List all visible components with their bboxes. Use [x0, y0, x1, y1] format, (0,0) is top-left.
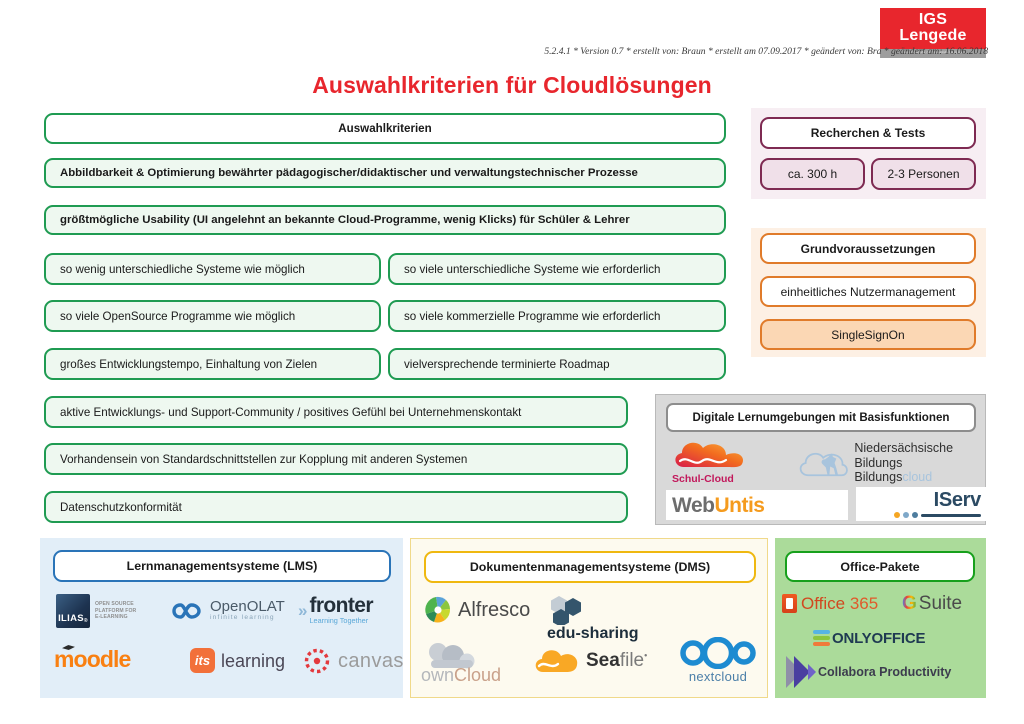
- office365-label: Office 365: [801, 595, 878, 612]
- nextcloud-circles-icon: [676, 637, 760, 669]
- lms-heading: Lernmanagementsysteme (LMS): [53, 550, 391, 582]
- openolat-label: OpenOLAT: [210, 599, 285, 614]
- learning-envs-heading: Digitale Lernumgebungen mit Basisfunktio…: [666, 403, 976, 432]
- fronter-logo: » fronter Learning Together: [298, 596, 373, 625]
- seafile-logo: Seafile•: [533, 644, 647, 676]
- collabora-logo: Collabora Productivity: [784, 653, 951, 691]
- onlyoffice-stack-icon: [813, 630, 830, 646]
- criteria-wide-1[interactable]: größtmögliche Usability (UI angelehnt an…: [44, 205, 726, 235]
- edusharing-label: edu-sharing: [547, 626, 639, 642]
- criteria-pair-1-left[interactable]: so viele OpenSource Programme wie möglic…: [44, 300, 381, 332]
- collabora-arrow-icon: [784, 653, 818, 691]
- poster-canvas: IGS Lengede Gesamtschule der Gemeinde Le…: [0, 0, 1024, 724]
- criteria-bottom-2[interactable]: Datenschutzkonformität: [44, 491, 628, 523]
- nextcloud-label: nextcloud: [689, 669, 747, 684]
- owncloud-label: ownCloud: [421, 666, 501, 684]
- nbc-label-1: Niedersächsische Bildungs: [854, 441, 986, 470]
- openolat-caption: infinite learning: [210, 614, 285, 623]
- schul-cloud-cloud-icon: [672, 437, 782, 473]
- dms-heading: Dokumentenmanagementsysteme (DMS): [424, 551, 756, 583]
- iserv-label: IServ: [934, 490, 981, 510]
- prerequisites-item-0[interactable]: einheitliches Nutzermanagement: [760, 276, 976, 307]
- prerequisites-item-1[interactable]: SingleSignOn: [760, 319, 976, 350]
- prerequisites-heading: Grundvoraussetzungen: [760, 233, 976, 264]
- nextcloud-logo: nextcloud: [676, 637, 760, 684]
- seafile-cloud-icon: [533, 644, 581, 676]
- criteria-pair-2-left[interactable]: großes Entwicklungstempo, Einhaltung von…: [44, 348, 381, 380]
- itslearning-logo: its learning: [190, 648, 285, 673]
- fronter-chevrons-icon: »: [298, 602, 304, 619]
- page-title: Auswahlkriterien für Cloudlösungen: [0, 72, 1024, 99]
- criteria-bottom-0[interactable]: aktive Entwicklungs- und Support-Communi…: [44, 396, 628, 428]
- criteria-bottom-1[interactable]: Vorhandensein von Standardschnittstellen…: [44, 443, 628, 475]
- fronter-caption: Learning Together: [309, 616, 372, 625]
- canvas-label: canvas: [338, 651, 404, 671]
- moodle-label: moodle: [54, 646, 130, 672]
- owncloud-logo: ownCloud: [421, 640, 501, 684]
- ilias-badge: ILIAS®: [56, 594, 90, 628]
- criteria-pair-2-right[interactable]: vielversprechende terminierte Roadmap: [388, 348, 726, 380]
- alfresco-label: Alfresco: [458, 600, 530, 620]
- gsuite-label: Suite: [919, 594, 962, 613]
- itslearning-caption: learning: [221, 652, 285, 670]
- schul-cloud-logo: Schul-Cloud: [672, 437, 802, 489]
- iserv-dots-icon: [894, 512, 981, 518]
- itslearning-badge: its: [190, 648, 215, 673]
- office-panel: Office-Pakete Office 365 G Suite ONLYOFF…: [775, 538, 986, 698]
- ilias-caption: OPEN SOURCEPLATFORM FORE-LEARNING: [95, 601, 136, 622]
- openolat-logo: OpenOLAT infinite learning: [171, 599, 285, 623]
- alfresco-pinwheel-icon: [423, 595, 453, 625]
- gsuite-logo: G Suite: [902, 594, 962, 613]
- criteria-pair-0-right[interactable]: so viele unterschiedliche Systeme wie er…: [388, 253, 726, 285]
- prerequisites-panel: Grundvoraussetzungen einheitliches Nutze…: [751, 228, 986, 357]
- alfresco-logo: Alfresco: [423, 595, 530, 625]
- research-people[interactable]: 2-3 Personen: [871, 158, 976, 190]
- edusharing-hex-icon: [547, 595, 601, 625]
- fronter-label: fronter: [309, 596, 372, 616]
- office-tile-icon: [782, 594, 797, 613]
- criteria-heading: Auswahlkriterien: [44, 113, 726, 144]
- research-panel: Recherchen & Tests ca. 300 h 2-3 Persone…: [751, 108, 986, 199]
- onlyoffice-label: ONLYOFFICE: [832, 631, 925, 646]
- office-heading: Office-Pakete: [785, 551, 975, 582]
- nbc-horse-cloud-icon: [796, 441, 850, 485]
- webuntis-label: WebUntis: [672, 495, 764, 516]
- iserv-logo: IServ: [856, 487, 987, 521]
- ilias-logo: ILIAS® OPEN SOURCEPLATFORM FORE-LEARNING: [56, 594, 136, 628]
- criteria-wide-0[interactable]: Abbildbarkeit & Optimierung bewährter pä…: [44, 158, 726, 188]
- collabora-label: Collabora Productivity: [818, 666, 951, 679]
- seafile-label: Seafile•: [586, 651, 647, 670]
- openolat-infinity-icon: [171, 601, 205, 621]
- canvas-ring-icon: [304, 648, 330, 674]
- webuntis-logo: WebUntis: [666, 490, 848, 520]
- dms-panel: Dokumentenmanagementsysteme (DMS) Alfres…: [410, 538, 768, 698]
- onlyoffice-logo: ONLYOFFICE: [813, 630, 925, 646]
- document-meta: 5.2.4.1 * Version 0.7 * erstellt von: Br…: [544, 46, 988, 57]
- schul-cloud-label: Schul-Cloud: [672, 473, 734, 485]
- moodle-logo: moodle: [54, 648, 130, 672]
- nbc-logo: Niedersächsische Bildungs Bildungscloud: [796, 439, 986, 487]
- learning-envs-panel: Digitale Lernumgebungen mit Basisfunktio…: [655, 394, 986, 525]
- criteria-pair-1-right[interactable]: so viele kommerzielle Programme wie erfo…: [388, 300, 726, 332]
- research-heading: Recherchen & Tests: [760, 117, 976, 149]
- office365-logo: Office 365: [782, 594, 878, 613]
- criteria-pair-0-left[interactable]: so wenig unterschiedliche Systeme wie mö…: [44, 253, 381, 285]
- lms-panel: Lernmanagementsysteme (LMS) ILIAS® OPEN …: [40, 538, 403, 698]
- research-effort[interactable]: ca. 300 h: [760, 158, 865, 190]
- edusharing-logo: edu-sharing: [547, 595, 639, 642]
- logo-title: IGS Lengede: [880, 8, 986, 49]
- google-g-icon: G: [902, 594, 917, 613]
- canvas-logo: canvas: [304, 648, 404, 674]
- nbc-label-2: Bildungscloud: [854, 470, 986, 484]
